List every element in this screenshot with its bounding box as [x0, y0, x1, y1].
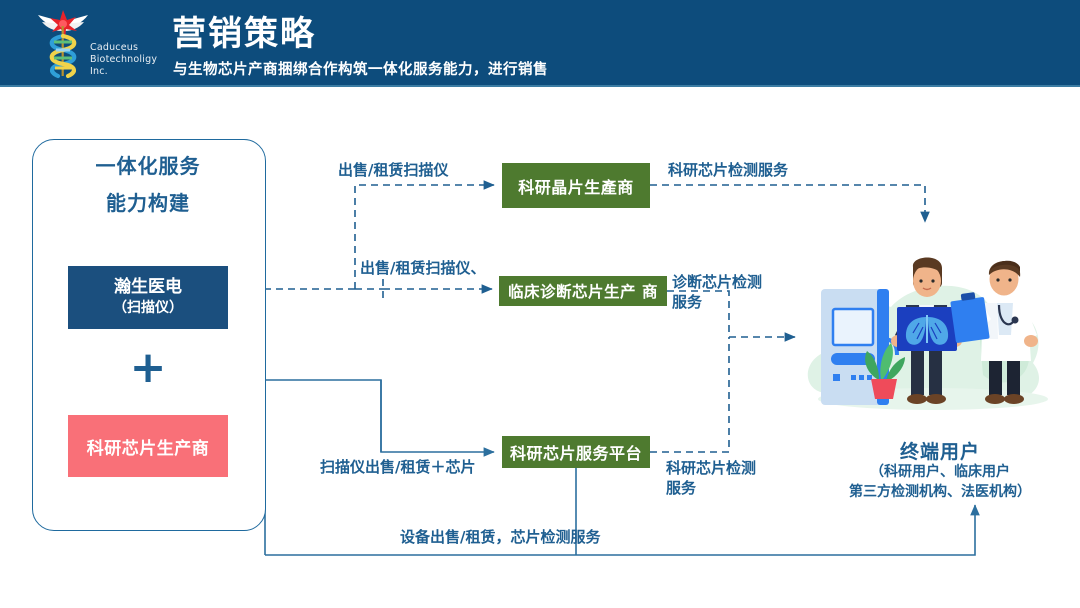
logo-line-1: Caduceus: [90, 42, 162, 54]
scanner-company-sub: （扫描仪）: [113, 298, 183, 318]
flow-label-diagnostic-chip-testing: 诊断芯片检测 服务: [672, 272, 772, 312]
caduceus-dna-logo-icon: [32, 6, 94, 80]
end-user-subtitle: （科研用户、临床用户 第三方检测机构、法医机构）: [808, 462, 1072, 502]
card-title-line-2: 能力构建: [32, 185, 264, 222]
node-wafer-maker[interactable]: 科研晶片生產商: [502, 163, 650, 208]
node-clinical-chip-maker[interactable]: 临床诊断芯片生产 商: [499, 276, 667, 306]
plus-icon: +: [68, 342, 228, 394]
scanner-company-box[interactable]: 瀚生医电 （扫描仪）: [68, 266, 228, 329]
card-title-line-1: 一体化服务: [32, 148, 264, 185]
research-chip-maker-box[interactable]: 科研芯片生产商: [68, 415, 228, 477]
scanner-patient-doctor-illustration-icon: [793, 243, 1063, 433]
header-divider: [0, 85, 1080, 87]
flow-label-equipment-sell-rent: 设备出售/租赁，芯片检测服务: [400, 527, 600, 547]
logo-wordmark: Caduceus Biotechnoligy Inc.: [90, 42, 162, 78]
company-logo: Caduceus Biotechnoligy Inc.: [22, 4, 162, 82]
scanner-company-name: 瀚生医电: [114, 277, 182, 298]
flow-label-research-chip-testing-bottom: 科研芯片检测 服务: [666, 458, 766, 498]
flow-label-sell-rent-scanner-2: 出售/租赁扫描仪、: [360, 258, 485, 278]
node-research-chip-platform[interactable]: 科研芯片服务平台: [502, 436, 650, 468]
page-subtitle: 与生物芯片产商捆绑合作构筑一体化服务能力，进行销售: [173, 58, 548, 79]
flow-label-sell-rent-scanner: 出售/租赁扫描仪: [338, 160, 448, 180]
flow-label-research-chip-testing-top: 科研芯片检测服务: [668, 160, 788, 180]
end-user-sub-line-1: （科研用户、临床用户: [808, 462, 1072, 482]
page-title: 营销策略: [172, 6, 316, 55]
slide-root: Caduceus Biotechnoligy Inc. 营销策略 与生物芯片产商…: [0, 0, 1080, 608]
logo-line-2: Biotechnoligy Inc.: [90, 54, 162, 78]
card-title: 一体化服务 能力构建: [32, 148, 264, 222]
flow-label-scanner-sell-rent-chip: 扫描仪出售/租赁＋芯片: [320, 457, 475, 477]
end-user-title: 终端用户: [820, 437, 1060, 464]
end-user-sub-line-2: 第三方检测机构、法医机构）: [808, 482, 1072, 502]
